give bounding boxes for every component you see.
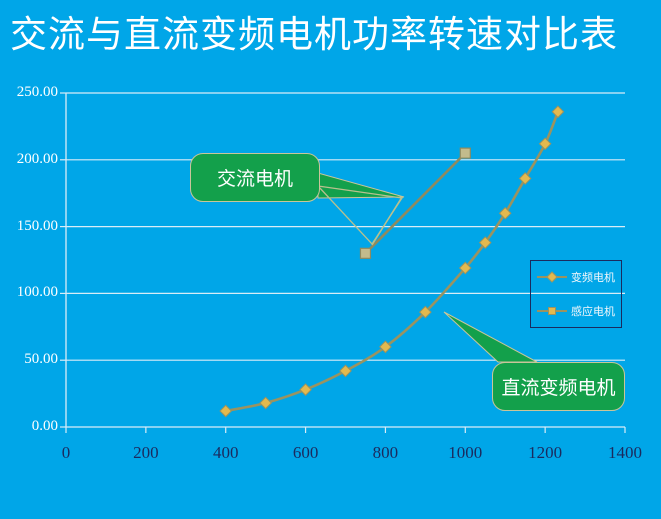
data-point-marker xyxy=(220,405,231,416)
legend-item-0[interactable]: 变频电机 xyxy=(537,269,615,285)
y-tick-label: 100.00 xyxy=(0,284,58,301)
data-point-marker xyxy=(460,148,470,158)
x-tick-label: 1000 xyxy=(435,443,495,463)
x-tick-marks xyxy=(66,427,625,433)
legend-marker-square-icon xyxy=(537,306,567,316)
y-tick-label: 200.00 xyxy=(0,151,58,168)
callout-dc-motor[interactable]: 直流变频电机 xyxy=(492,362,625,411)
y-tick-label: 150.00 xyxy=(0,218,58,235)
chart-legend[interactable]: 变频电机 感应电机 xyxy=(530,260,622,328)
y-tick-marks xyxy=(60,93,66,427)
x-tick-label: 400 xyxy=(196,443,256,463)
legend-label-1: 感应电机 xyxy=(571,303,615,319)
callout-ac-motor[interactable]: 交流电机 xyxy=(190,153,320,202)
data-point-marker xyxy=(260,397,271,408)
x-tick-label: 1200 xyxy=(515,443,575,463)
x-tick-label: 0 xyxy=(36,443,96,463)
data-point-marker xyxy=(552,106,563,117)
data-point-marker xyxy=(360,248,370,258)
chart-root: 交流与直流变频电机功率转速对比表 0.0050.00100.00150.0020… xyxy=(0,0,661,519)
data-point-marker xyxy=(300,384,311,395)
data-point-marker xyxy=(340,365,351,376)
x-tick-label: 200 xyxy=(116,443,176,463)
legend-label-0: 变频电机 xyxy=(571,269,615,285)
legend-item-1[interactable]: 感应电机 xyxy=(537,303,615,319)
callout-leader-lines xyxy=(318,173,537,362)
legend-marker-circle-icon xyxy=(537,272,567,282)
y-tick-label: 250.00 xyxy=(0,84,58,101)
y-tick-label: 0.00 xyxy=(0,418,58,435)
x-tick-label: 600 xyxy=(276,443,336,463)
data-point-marker xyxy=(520,173,531,184)
y-tick-label: 50.00 xyxy=(0,351,58,368)
data-point-marker xyxy=(539,138,550,149)
x-tick-label: 1400 xyxy=(595,443,655,463)
x-tick-label: 800 xyxy=(355,443,415,463)
